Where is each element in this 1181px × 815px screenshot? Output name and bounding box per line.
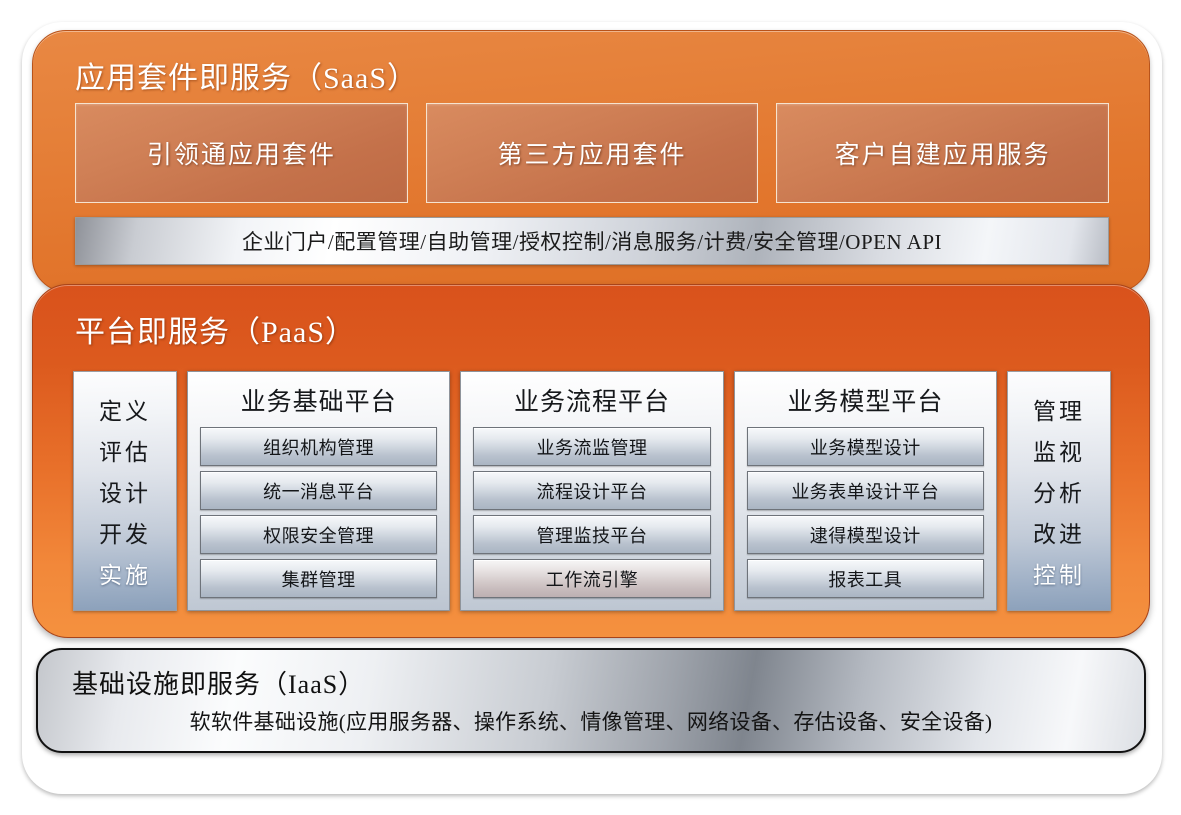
platform-item[interactable]: 业务流监管理 bbox=[473, 427, 710, 466]
saas-service-bar[interactable]: 企业门户/配置管理/自助管理/授权控制/消息服务/计费/安全管理/OPEN AP… bbox=[75, 217, 1109, 265]
platform-item-label: 组织机构管理 bbox=[263, 434, 374, 460]
platform-item-list: 业务模型设计 业务表单设计平台 逮得模型设计 报表工具 bbox=[747, 427, 984, 598]
saas-suite-row: 引领通应用套件 第三方应用套件 客户自建应用服务 bbox=[75, 103, 1109, 203]
platform-item-label: 业务表单设计平台 bbox=[791, 478, 939, 504]
platform-item-label: 权限安全管理 bbox=[263, 522, 374, 548]
management-item: 监视 bbox=[1033, 433, 1085, 467]
platform-panel-business-process: 业务流程平台 业务流监管理 流程设计平台 管理监技平台 工作流引擎 bbox=[460, 371, 723, 611]
platform-item-label: 管理监技平台 bbox=[536, 522, 647, 548]
lifecycle-item: 设计 bbox=[99, 474, 151, 508]
platform-item-label: 统一消息平台 bbox=[263, 478, 374, 504]
paas-body: 定义 评估 设计 开发 实施 业务基础平台 组织机构管理 统一消息平台 权限 bbox=[73, 371, 1111, 611]
saas-title: 应用套件即服务（SaaS） bbox=[75, 53, 418, 97]
platform-item-label: 逮得模型设计 bbox=[810, 522, 921, 548]
paas-left-column[interactable]: 定义 评估 设计 开发 实施 bbox=[73, 371, 177, 611]
saas-suite-box[interactable]: 引领通应用套件 bbox=[75, 103, 408, 203]
management-item: 分析 bbox=[1033, 474, 1085, 508]
platform-item-list: 组织机构管理 统一消息平台 权限安全管理 集群管理 bbox=[200, 427, 437, 598]
platform-item-label: 业务模型设计 bbox=[810, 434, 921, 460]
platform-item[interactable]: 权限安全管理 bbox=[200, 515, 437, 554]
platform-item[interactable]: 集群管理 bbox=[200, 559, 437, 598]
lifecycle-item: 实施 bbox=[99, 556, 151, 590]
platform-item[interactable]: 统一消息平台 bbox=[200, 471, 437, 510]
platform-item-label: 报表工具 bbox=[828, 566, 902, 592]
saas-suite-label: 第三方应用套件 bbox=[498, 135, 687, 171]
saas-panel: 应用套件即服务（SaaS） 引领通应用套件 第三方应用套件 客户自建应用服务 企… bbox=[32, 30, 1150, 292]
lifecycle-item: 定义 bbox=[99, 392, 151, 426]
iaas-description: 软软件基础设施(应用服务器、操作系统、情像管理、网络设备、存估设备、安全设备) bbox=[38, 706, 1144, 736]
platform-item[interactable]: 业务模型设计 bbox=[747, 427, 984, 466]
paas-right-column[interactable]: 管理 监视 分析 改进 控制 bbox=[1007, 371, 1111, 611]
saas-service-bar-label: 企业门户/配置管理/自助管理/授权控制/消息服务/计费/安全管理/OPEN AP… bbox=[242, 226, 942, 256]
saas-suite-label: 引领通应用套件 bbox=[147, 135, 336, 171]
platform-item[interactable]: 管理监技平台 bbox=[473, 515, 710, 554]
platform-item-list: 业务流监管理 流程设计平台 管理监技平台 工作流引擎 bbox=[473, 427, 710, 598]
platform-panel-business-base: 业务基础平台 组织机构管理 统一消息平台 权限安全管理 集群管理 bbox=[187, 371, 450, 611]
platform-panel-business-model: 业务模型平台 业务模型设计 业务表单设计平台 逮得模型设计 报表工具 bbox=[734, 371, 997, 611]
saas-suite-box[interactable]: 第三方应用套件 bbox=[426, 103, 759, 203]
iaas-title: 基础设施即服务（IaaS） bbox=[72, 664, 365, 701]
platform-item-label: 业务流监管理 bbox=[536, 434, 647, 460]
cloud-architecture-diagram: 应用套件即服务（SaaS） 引领通应用套件 第三方应用套件 客户自建应用服务 企… bbox=[0, 0, 1181, 815]
saas-suite-label: 客户自建应用服务 bbox=[835, 135, 1051, 171]
paas-title: 平台即服务（PaaS） bbox=[75, 307, 356, 351]
management-item: 控制 bbox=[1033, 556, 1085, 590]
platform-item[interactable]: 报表工具 bbox=[747, 559, 984, 598]
platform-item[interactable]: 工作流引擎 bbox=[473, 559, 710, 598]
lifecycle-item: 评估 bbox=[99, 433, 151, 467]
saas-suite-box[interactable]: 客户自建应用服务 bbox=[776, 103, 1109, 203]
lifecycle-item: 开发 bbox=[99, 515, 151, 549]
management-item: 管理 bbox=[1033, 392, 1085, 426]
platform-title: 业务模型平台 bbox=[747, 382, 984, 418]
platform-item-label: 流程设计平台 bbox=[536, 478, 647, 504]
platform-item-label: 集群管理 bbox=[282, 566, 356, 592]
platform-item[interactable]: 组织机构管理 bbox=[200, 427, 437, 466]
platform-item[interactable]: 业务表单设计平台 bbox=[747, 471, 984, 510]
platform-item[interactable]: 流程设计平台 bbox=[473, 471, 710, 510]
platform-title: 业务基础平台 bbox=[200, 382, 437, 418]
platform-item[interactable]: 逮得模型设计 bbox=[747, 515, 984, 554]
paas-panel: 平台即服务（PaaS） 定义 评估 设计 开发 实施 业务基础平台 组织机构管理… bbox=[32, 284, 1150, 638]
platform-item-label: 工作流引擎 bbox=[546, 566, 639, 592]
iaas-panel: 基础设施即服务（IaaS） 软软件基础设施(应用服务器、操作系统、情像管理、网络… bbox=[36, 648, 1146, 753]
management-item: 改进 bbox=[1033, 515, 1085, 549]
platform-title: 业务流程平台 bbox=[473, 382, 710, 418]
